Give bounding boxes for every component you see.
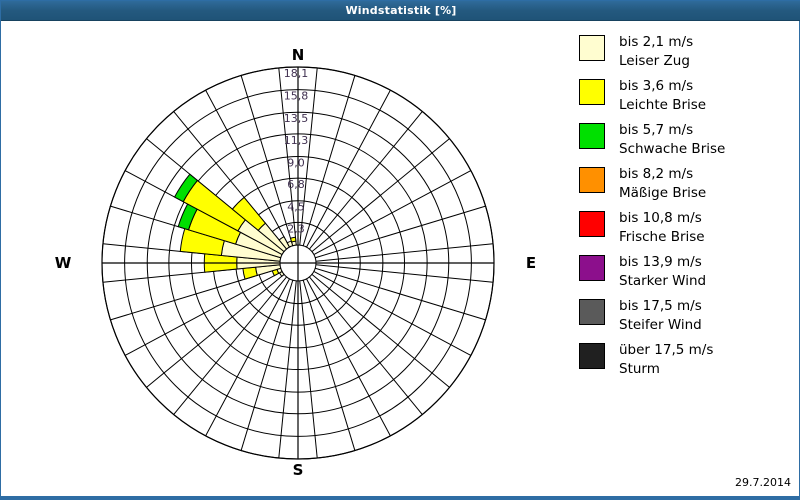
legend-item-text: bis 2,1 m/sLeiser Zug	[619, 33, 693, 70]
legend-speed-label: bis 5,7 m/s	[619, 121, 725, 140]
wedge-WbS-band-2	[243, 267, 257, 279]
grid-spoke	[241, 280, 293, 450]
legend-color-swatch	[579, 211, 605, 237]
legend-name-label: Starker Wind	[619, 272, 706, 291]
legend-item: bis 8,2 m/sMäßige Brise	[579, 165, 794, 202]
grid-spoke	[315, 268, 485, 320]
grid-spoke	[312, 139, 450, 252]
compass-label-south: S	[274, 461, 322, 479]
legend-item: über 17,5 m/sSturm	[579, 341, 794, 378]
legend-color-swatch	[579, 167, 605, 193]
radial-tick-label: 13,5	[284, 112, 309, 125]
grid-spoke	[174, 277, 287, 415]
compass-label-north: N	[274, 46, 322, 64]
radial-tick-label: 6,8	[287, 178, 305, 191]
legend-color-swatch	[579, 123, 605, 149]
bottom-accent-bar	[1, 496, 800, 499]
legend-item: bis 5,7 m/sSchwache Brise	[579, 121, 794, 158]
radial-tick-label: 4,5	[287, 201, 305, 214]
wedge-NbW-band-2	[290, 237, 295, 242]
legend-color-swatch	[579, 79, 605, 105]
legend-item-text: bis 13,9 m/sStarker Wind	[619, 253, 706, 290]
legend-color-swatch	[579, 255, 605, 281]
legend-speed-label: bis 8,2 m/s	[619, 165, 706, 184]
compass-label-east: E	[509, 254, 553, 272]
legend-item-text: bis 5,7 m/sSchwache Brise	[619, 121, 725, 158]
legend-speed-label: bis 10,8 m/s	[619, 209, 705, 228]
legend-item-text: bis 10,8 m/sFrische Brise	[619, 209, 705, 246]
grid-spoke	[303, 75, 355, 245]
legend-color-swatch	[579, 343, 605, 369]
legend-item-text: über 17,5 m/sSturm	[619, 341, 713, 378]
legend-speed-label: über 17,5 m/s	[619, 341, 713, 360]
legend-speed-label: bis 17,5 m/s	[619, 297, 702, 316]
radial-tick-label: 9,0	[287, 156, 305, 169]
grid-spoke	[315, 206, 485, 258]
radial-tick-label: 11,3	[284, 134, 309, 147]
legend: bis 2,1 m/sLeiser Zugbis 3,6 m/sLeichte …	[579, 33, 794, 385]
legend-item-text: bis 8,2 m/sMäßige Brise	[619, 165, 706, 202]
grid-spoke	[309, 111, 422, 249]
legend-item: bis 3,6 m/sLeichte Brise	[579, 77, 794, 114]
legend-name-label: Leiser Zug	[619, 52, 693, 71]
legend-color-swatch	[579, 35, 605, 61]
compass-label-west: W	[41, 254, 85, 272]
legend-speed-label: bis 13,9 m/s	[619, 253, 706, 272]
windrose-app: Windstatistik [%] 2,34,56,89,011,313,515…	[0, 0, 800, 500]
legend-item-text: bis 17,5 m/sSteifer Wind	[619, 297, 702, 334]
legend-name-label: Steifer Wind	[619, 316, 702, 335]
legend-name-label: Leichte Brise	[619, 96, 706, 115]
window-titlebar: Windstatistik [%]	[1, 1, 800, 21]
legend-item-text: bis 3,6 m/sLeichte Brise	[619, 77, 706, 114]
window-title: Windstatistik [%]	[345, 1, 456, 20]
windrose-svg: 2,34,56,89,011,313,515,818,1	[1, 21, 569, 499]
legend-item: bis 10,8 m/sFrische Brise	[579, 209, 794, 246]
legend-color-swatch	[579, 299, 605, 325]
legend-item: bis 2,1 m/sLeiser Zug	[579, 33, 794, 70]
grid-spoke	[146, 274, 284, 387]
windrose-plot: 2,34,56,89,011,313,515,818,1	[1, 21, 569, 499]
legend-name-label: Frische Brise	[619, 228, 705, 247]
grid-spoke	[309, 277, 422, 415]
legend-name-label: Sturm	[619, 360, 713, 379]
legend-item: bis 13,9 m/sStarker Wind	[579, 253, 794, 290]
radial-tick-label: 15,8	[284, 90, 309, 103]
polar-axis-lines	[102, 67, 494, 459]
legend-item: bis 17,5 m/sSteifer Wind	[579, 297, 794, 334]
legend-speed-label: bis 2,1 m/s	[619, 33, 693, 52]
legend-name-label: Schwache Brise	[619, 140, 725, 159]
legend-speed-label: bis 3,6 m/s	[619, 77, 706, 96]
radial-tick-label: 2,3	[287, 222, 305, 235]
grid-spoke	[303, 280, 355, 450]
legend-name-label: Mäßige Brise	[619, 184, 706, 203]
grid-spoke	[312, 274, 450, 387]
radial-tick-label: 18,1	[284, 67, 309, 80]
footer-date: 29.7.2014	[735, 476, 791, 489]
